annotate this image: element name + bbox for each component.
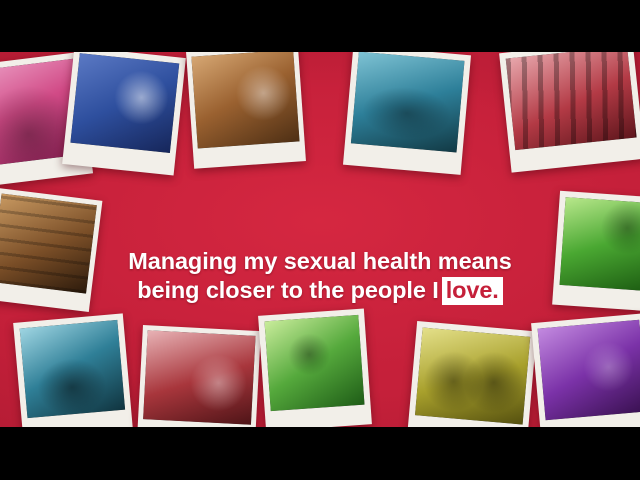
photo-image-area (191, 52, 299, 148)
photo-image-area (415, 327, 530, 424)
letterbox-bar-bottom (0, 427, 640, 480)
photo-couple-selfie-blue (70, 53, 179, 153)
polaroid-photo-couple-selfie-blue (62, 52, 186, 176)
photo-family-purple (538, 320, 640, 421)
photo-woman-glasses-green (264, 315, 364, 411)
photo-image-area (506, 52, 637, 150)
polaroid-photo-couple-selfie-red (137, 325, 261, 427)
polaroid-photo-friends-sepia (186, 52, 306, 169)
photo-image-area (70, 53, 179, 153)
photo-couple-selfie-red (143, 330, 256, 425)
photo-image-area (264, 315, 364, 411)
photo-friends-sepia (191, 52, 299, 148)
letterbox-bar-top (0, 0, 640, 52)
caption-block: Managing my sexual health means being cl… (0, 248, 640, 305)
photo-image-area (143, 330, 256, 425)
polaroid-photo-couple-porch-teal (13, 313, 133, 427)
caption-line-2-text: being closer to the people I (137, 277, 438, 303)
photo-group-street-teal (351, 52, 465, 152)
polaroid-photo-group-street-teal (343, 52, 471, 175)
photo-image-area (20, 320, 125, 418)
polaroid-photo-jumping-crowd-red (499, 52, 640, 173)
polaroid-photo-family-purple (531, 313, 640, 427)
polaroid-photo-two-men-olive (407, 321, 536, 427)
video-still: Managing my sexual health means being cl… (0, 52, 640, 427)
video-player-frame: Managing my sexual health means being cl… (0, 0, 640, 480)
caption-line-1: Managing my sexual health means (0, 248, 640, 275)
photo-couple-porch-teal (20, 320, 125, 418)
photo-image-area (351, 52, 465, 152)
photo-jumping-crowd-red (506, 52, 637, 150)
photo-image-area (538, 320, 640, 421)
caption-highlight-love: love. (442, 277, 503, 305)
caption-line-2: being closer to the people Ilove. (0, 277, 640, 305)
polaroid-photo-woman-glasses-green (258, 308, 372, 427)
photo-two-men-olive (415, 327, 530, 424)
